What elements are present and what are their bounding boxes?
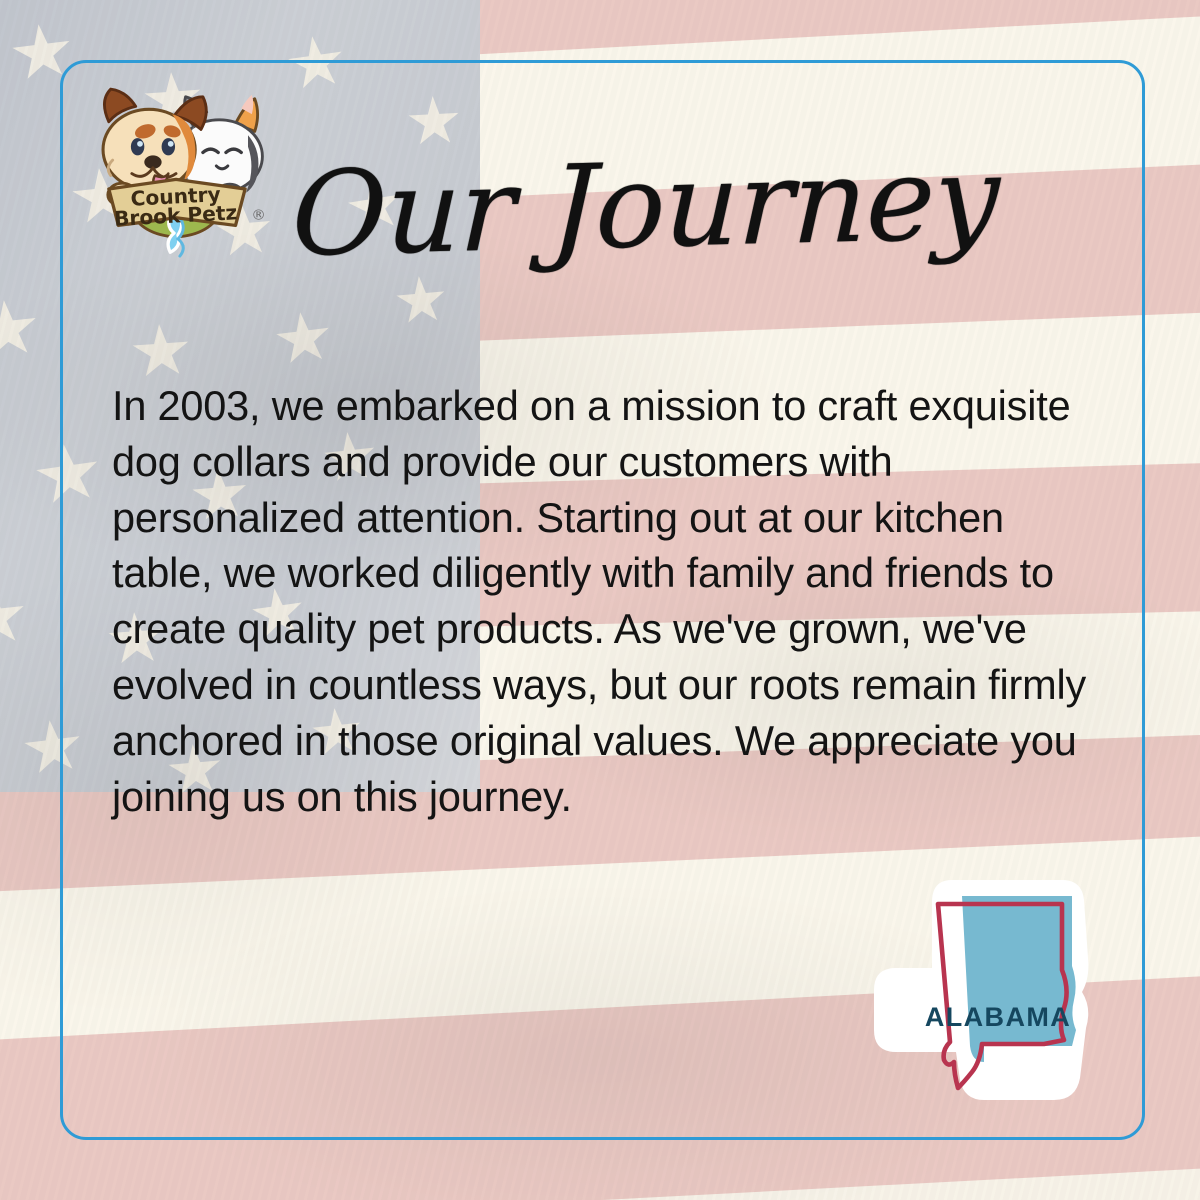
state-fill-shape: [962, 896, 1076, 1062]
logo-trademark-symbol: ®: [251, 208, 265, 224]
poster-canvas: Country Brook Petz ® Our Journey In 2003…: [0, 0, 1200, 1200]
logo-brand-line-2: Brook Petz: [113, 200, 237, 230]
country-brook-petz-logo: Country Brook Petz ®: [80, 68, 272, 260]
journey-paragraph: In 2003, we embarked on a mission to cra…: [112, 378, 1112, 825]
state-label: ALABAMA: [898, 1002, 1098, 1033]
page-title: Our Journey: [290, 139, 1000, 275]
alabama-state-badge: ALABAMA: [866, 866, 1128, 1124]
